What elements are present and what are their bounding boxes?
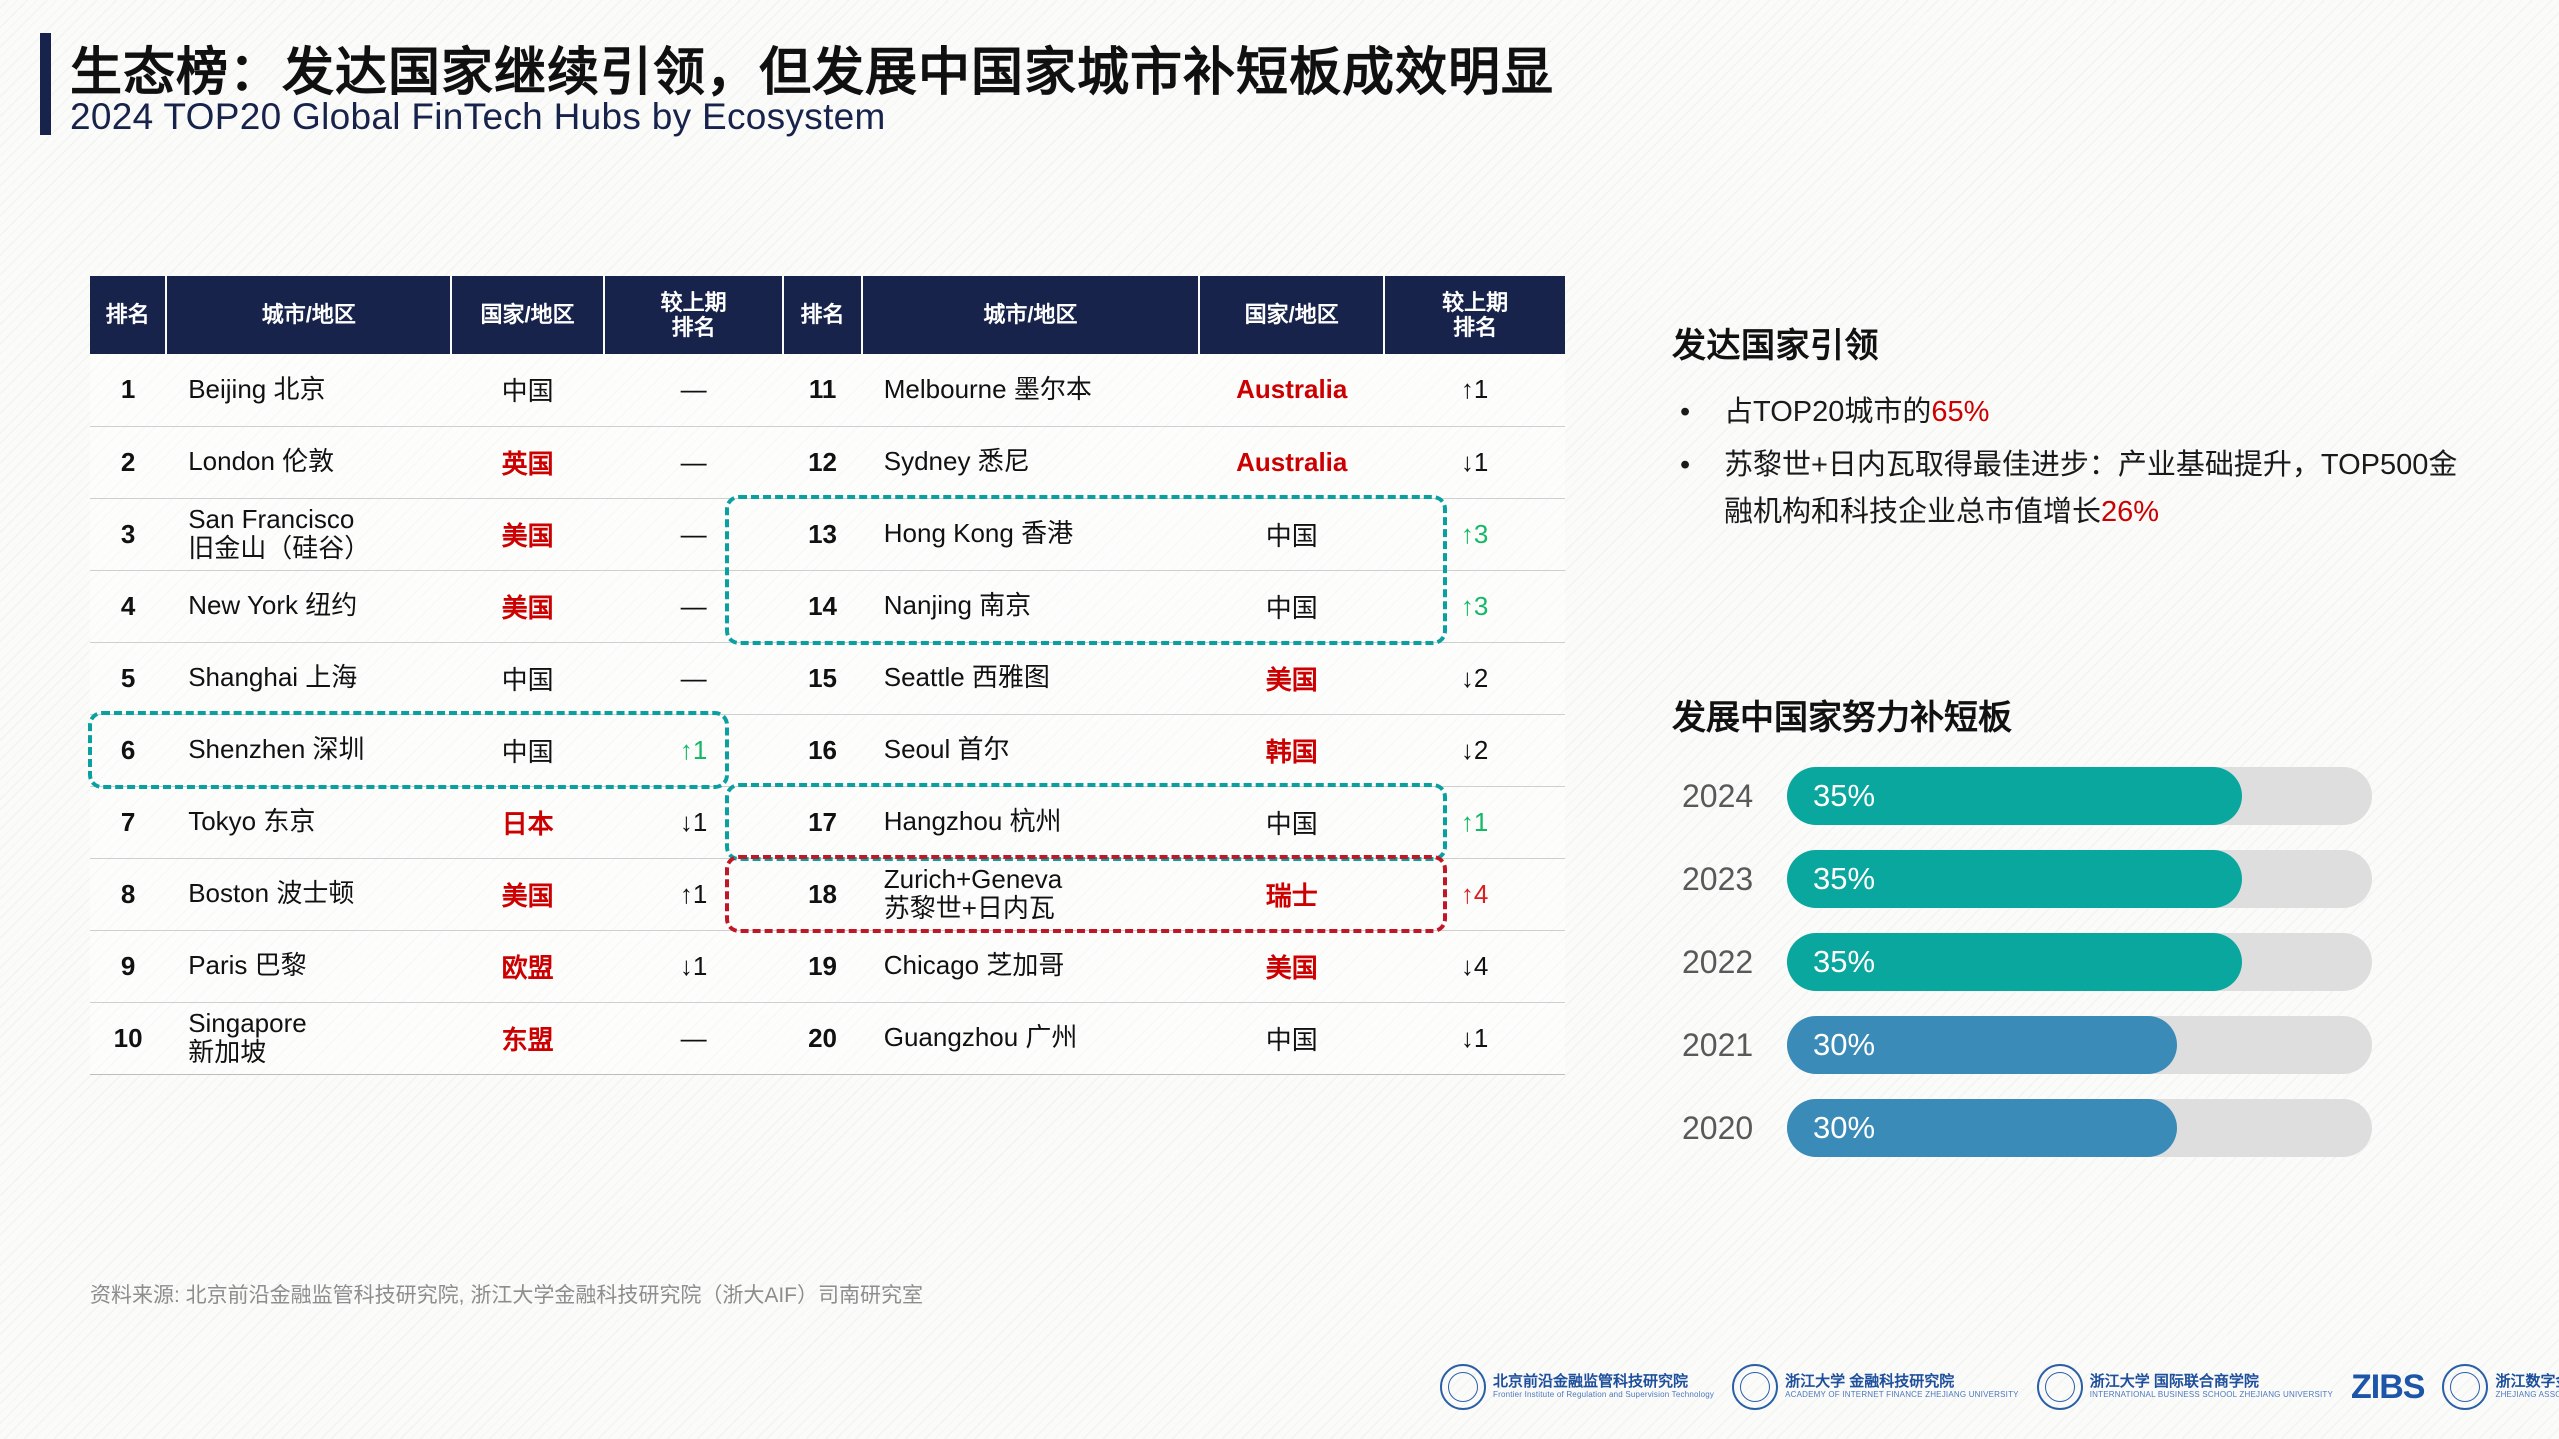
chart-bar-row: 202030%: [1672, 1097, 2472, 1159]
bar-fill: 30%: [1787, 1016, 2177, 1074]
column-header-country-right: 国家/地区: [1199, 276, 1384, 354]
column-header-city-right: 城市/地区: [862, 276, 1199, 354]
city-name: Hong Kong 香港: [884, 518, 1073, 548]
rank-cell-left: 10: [90, 1002, 166, 1074]
city-cell-right: Seattle 西雅图: [862, 642, 1199, 714]
institution-seal-icon: [1440, 1364, 1486, 1410]
rank-change-indicator: ↓1: [1461, 1023, 1488, 1053]
rank-cell-right: 18: [783, 858, 861, 930]
rank-change-indicator: ↓4: [1461, 951, 1488, 981]
rank-cell-left: 3: [90, 498, 166, 570]
bar-year-label: 2020: [1672, 1110, 1787, 1147]
footer-logo-strip: 北京前沿金融监管科技研究院Frontier Institute of Regul…: [1440, 1352, 2540, 1422]
rank-cell-left: 6: [90, 714, 166, 786]
bar-year-label: 2023: [1672, 861, 1787, 898]
change-cell-right: ↑4: [1384, 858, 1565, 930]
column-header-rank-left: 排名: [90, 276, 166, 354]
page-header: 生态榜：发达国家继续引领，但发展中国家城市补短板成效明显 2024 TOP20 …: [40, 28, 2140, 138]
city-name: Paris 巴黎: [188, 950, 306, 980]
table-row: 2London 伦敦英国—12Sydney 悉尼Australia↓1: [90, 426, 1565, 498]
chart-bar-row: 202335%: [1672, 848, 2472, 910]
country-cell-right: 中国: [1199, 786, 1384, 858]
country-cell-right: Australia: [1199, 426, 1384, 498]
table-row: 8Boston 波士顿美国↑118Zurich+Geneva苏黎世+日内瓦瑞士↑…: [90, 858, 1565, 930]
city-name: Guangzhou 广州: [884, 1022, 1078, 1052]
change-cell-right: ↓1: [1384, 1002, 1565, 1074]
change-cell-left: ↓1: [604, 786, 784, 858]
country-label: 美国: [502, 881, 554, 911]
city-name-line2: 苏黎世+日内瓦: [884, 893, 1055, 923]
city-name: Seoul 首尔: [884, 734, 1010, 764]
footer-logo: 浙江大学 国际联合商学院INTERNATIONAL BUSINESS SCHOO…: [2037, 1364, 2333, 1410]
city-name-line2: 旧金山（硅谷）: [188, 533, 370, 563]
rank-cell-left: 1: [90, 354, 166, 426]
ranking-table-container: 排名 城市/地区 国家/地区 较上期排名 排名 城市/地区 国家/地区 较上期排…: [90, 276, 1565, 1236]
city-cell-left: San Francisco旧金山（硅谷）: [166, 498, 451, 570]
logo-name-en: INTERNATIONAL BUSINESS SCHOOL ZHEJIANG U…: [2090, 1391, 2333, 1400]
country-cell-right: 美国: [1199, 930, 1384, 1002]
table-body: 1Beijing 北京中国—11Melbourne 墨尔本Australia↑1…: [90, 354, 1565, 1074]
table-row: 4New York 纽约美国—14Nanjing 南京中国↑3: [90, 570, 1565, 642]
bullet-highlight-value: 26%: [2101, 496, 2159, 528]
city-name: Sydney 悉尼: [884, 446, 1030, 476]
country-cell-right: 中国: [1199, 1002, 1384, 1074]
city-cell-left: Tokyo 东京: [166, 786, 451, 858]
country-cell-left: 中国: [451, 714, 603, 786]
rank-cell-left: 8: [90, 858, 166, 930]
city-name: Shenzhen 深圳: [188, 734, 364, 764]
bar-track: 35%: [1787, 767, 2372, 825]
rank-cell-left: 9: [90, 930, 166, 1002]
country-cell-left: 日本: [451, 786, 603, 858]
city-cell-right: Hangzhou 杭州: [862, 786, 1199, 858]
bullet-dot-icon: •: [1680, 442, 1690, 489]
change-cell-left: ↓1: [604, 930, 784, 1002]
city-cell-left: New York 纽约: [166, 570, 451, 642]
city-name: Hangzhou 杭州: [884, 806, 1062, 836]
rank-change-indicator: ↑1: [1461, 807, 1488, 837]
change-cell-right: ↓1: [1384, 426, 1565, 498]
city-name-line1: Zurich+Geneva: [884, 864, 1062, 894]
bar-fill: 30%: [1787, 1099, 2177, 1157]
city-cell-left: London 伦敦: [166, 426, 451, 498]
city-name-line1: San Francisco: [188, 504, 354, 534]
footer-logo: 浙江数字金融科技联合会ZHEJIANG ASSOCIATION OF FINTE…: [2442, 1364, 2559, 1410]
logo-name-cn: 浙江大学 国际联合商学院: [2090, 1374, 2333, 1391]
bar-track: 35%: [1787, 933, 2372, 991]
rank-change-indicator: ↑3: [1461, 519, 1488, 549]
change-header-line1: 较上期: [661, 290, 727, 315]
change-header2-line2: 排名: [1453, 315, 1497, 340]
city-cell-left: Boston 波士顿: [166, 858, 451, 930]
insights-bullet-list: •占TOP20城市的65%•苏黎世+日内瓦取得最佳进步：产业基础提升，TOP50…: [1672, 389, 2472, 536]
bar-fill: 35%: [1787, 933, 2242, 991]
city-cell-left: Singapore新加坡: [166, 1002, 451, 1074]
change-cell-left: —: [604, 1002, 784, 1074]
city-cell-left: Shenzhen 深圳: [166, 714, 451, 786]
logo-name-en: ACADEMY OF INTERNET FINANCE ZHEJIANG UNI…: [1785, 1391, 2019, 1400]
change-cell-left: ↑1: [604, 858, 784, 930]
change-cell-left: —: [604, 426, 784, 498]
country-cell-left: 中国: [451, 642, 603, 714]
institution-seal-icon: [2037, 1364, 2083, 1410]
table-row: 1Beijing 北京中国—11Melbourne 墨尔本Australia↑1: [90, 354, 1565, 426]
country-label: 中国: [1266, 1025, 1318, 1055]
rank-cell-left: 2: [90, 426, 166, 498]
country-cell-left: 欧盟: [451, 930, 603, 1002]
table-row: 7Tokyo 东京日本↓117Hangzhou 杭州中国↑1: [90, 786, 1565, 858]
rank-cell-right: 13: [783, 498, 861, 570]
country-label: 中国: [1266, 521, 1318, 551]
footer-logo: 浙江大学 金融科技研究院ACADEMY OF INTERNET FINANCE …: [1732, 1364, 2019, 1410]
country-cell-left: 美国: [451, 858, 603, 930]
rank-change-indicator: ↓2: [1461, 663, 1488, 693]
change-cell-right: ↑1: [1384, 354, 1565, 426]
rank-change-indicator: —: [681, 519, 707, 549]
bar-year-label: 2021: [1672, 1027, 1787, 1064]
column-header-change-left: 较上期排名: [604, 276, 784, 354]
city-name: Boston 波士顿: [188, 878, 354, 908]
change-cell-right: ↑3: [1384, 498, 1565, 570]
rank-cell-right: 20: [783, 1002, 861, 1074]
change-cell-right: ↓2: [1384, 714, 1565, 786]
city-name: Nanjing 南京: [884, 590, 1031, 620]
rank-cell-right: 17: [783, 786, 861, 858]
rank-change-indicator: —: [681, 663, 707, 693]
rank-change-indicator: ↑1: [680, 735, 707, 765]
bar-value-label: 35%: [1787, 861, 1875, 897]
chart-bars: 202435%202335%202235%202130%202030%: [1672, 765, 2472, 1159]
bullet-text: 占TOP20城市的: [1724, 396, 1931, 428]
insights-panel-heading: 发达国家引领: [1672, 318, 2472, 367]
rank-change-indicator: —: [681, 374, 707, 404]
page-title: 生态榜：发达国家继续引领，但发展中国家城市补短板成效明显: [70, 30, 1554, 105]
bar-fill: 35%: [1787, 850, 2242, 908]
city-name: Tokyo 东京: [188, 806, 315, 836]
city-cell-left: Beijing 北京: [166, 354, 451, 426]
logo-name-cn: 浙江大学 金融科技研究院: [1785, 1374, 2019, 1391]
country-label: Australia: [1236, 447, 1347, 477]
table-row: 9Paris 巴黎欧盟↓119Chicago 芝加哥美国↓4: [90, 930, 1565, 1002]
country-label: 美国: [1266, 665, 1318, 695]
rank-cell-right: 16: [783, 714, 861, 786]
rank-change-indicator: ↑3: [1461, 591, 1488, 621]
city-cell-right: Zurich+Geneva苏黎世+日内瓦: [862, 858, 1199, 930]
country-cell-left: 美国: [451, 570, 603, 642]
bar-value-label: 30%: [1787, 1027, 1875, 1063]
column-header-change-right: 较上期排名: [1384, 276, 1565, 354]
country-label: Australia: [1236, 374, 1347, 404]
country-label: 中国: [502, 737, 554, 767]
change-cell-right: ↑3: [1384, 570, 1565, 642]
table-row: 10Singapore新加坡东盟—20Guangzhou 广州中国↓1: [90, 1002, 1565, 1074]
country-label: 美国: [502, 593, 554, 623]
rank-cell-right: 11: [783, 354, 861, 426]
rank-cell-left: 4: [90, 570, 166, 642]
change-cell-left: —: [604, 354, 784, 426]
country-label: 美国: [1266, 953, 1318, 983]
city-cell-right: Seoul 首尔: [862, 714, 1199, 786]
country-cell-right: 瑞士: [1199, 858, 1384, 930]
country-label: 美国: [502, 521, 554, 551]
city-cell-left: Paris 巴黎: [166, 930, 451, 1002]
rank-cell-left: 5: [90, 642, 166, 714]
change-cell-left: —: [604, 642, 784, 714]
change-cell-right: ↑1: [1384, 786, 1565, 858]
institution-seal-icon: [1732, 1364, 1778, 1410]
table-row: 3San Francisco旧金山（硅谷）美国—13Hong Kong 香港中国…: [90, 498, 1565, 570]
rank-cell-right: 14: [783, 570, 861, 642]
change-cell-left: ↑1: [604, 714, 784, 786]
rank-cell-right: 15: [783, 642, 861, 714]
source-footnote: 资料来源: 北京前沿金融监管科技研究院, 浙江大学金融科技研究院（浙大AIF）司…: [90, 1279, 923, 1309]
bullet-text: 苏黎世+日内瓦取得最佳进步：产业基础提升，TOP500金融机构和科技企业总市值增…: [1724, 449, 2457, 528]
logo-name-cn: 浙江数字金融科技联合会: [2495, 1374, 2559, 1391]
rank-change-indicator: ↓2: [1461, 735, 1488, 765]
zibs-wordmark: ZIBS: [2351, 1368, 2424, 1407]
change-cell-right: ↓2: [1384, 642, 1565, 714]
bar-year-label: 2022: [1672, 944, 1787, 981]
rank-change-indicator: ↑1: [1461, 374, 1488, 404]
column-header-country-left: 国家/地区: [451, 276, 603, 354]
logo-name-en: ZHEJIANG ASSOCIATION OF FINTECH: [2495, 1391, 2559, 1400]
rank-cell-right: 19: [783, 930, 861, 1002]
bar-fill: 35%: [1787, 767, 2242, 825]
bar-track: 30%: [1787, 1016, 2372, 1074]
country-label: 欧盟: [502, 953, 554, 983]
chart-bar-row: 202130%: [1672, 1014, 2472, 1076]
logo-name-en: Frontier Institute of Regulation and Sup…: [1493, 1391, 1714, 1400]
country-label: 中国: [502, 376, 554, 406]
column-header-city-left: 城市/地区: [166, 276, 451, 354]
rank-change-indicator: —: [681, 447, 707, 477]
chart-title: 发展中国家努力补短板: [1672, 690, 2472, 739]
city-name: Chicago 芝加哥: [884, 950, 1065, 980]
developing-countries-chart: 发展中国家努力补短板 202435%202335%202235%202130%2…: [1672, 690, 2472, 1180]
country-label: 中国: [1266, 809, 1318, 839]
title-accent-bar: [40, 33, 51, 135]
city-name: Beijing 北京: [188, 374, 325, 404]
city-cell-right: Chicago 芝加哥: [862, 930, 1199, 1002]
rank-cell-right: 12: [783, 426, 861, 498]
country-label: 中国: [502, 665, 554, 695]
change-header2-line1: 较上期: [1442, 290, 1508, 315]
rank-change-indicator: ↑1: [680, 879, 707, 909]
city-cell-right: Melbourne 墨尔本: [862, 354, 1199, 426]
insight-bullet: •苏黎世+日内瓦取得最佳进步：产业基础提升，TOP500金融机构和科技企业总市值…: [1672, 442, 2472, 536]
bar-track: 30%: [1787, 1099, 2372, 1157]
chart-bar-row: 202435%: [1672, 765, 2472, 827]
city-name: Shanghai 上海: [188, 662, 357, 692]
table-row: 5Shanghai 上海中国—15Seattle 西雅图美国↓2: [90, 642, 1565, 714]
country-cell-right: Australia: [1199, 354, 1384, 426]
city-cell-right: Sydney 悉尼: [862, 426, 1199, 498]
page-subtitle: 2024 TOP20 Global FinTech Hubs by Ecosys…: [70, 96, 886, 138]
institution-seal-icon: [2442, 1364, 2488, 1410]
rank-cell-left: 7: [90, 786, 166, 858]
ranking-table: 排名 城市/地区 国家/地区 较上期排名 排名 城市/地区 国家/地区 较上期排…: [90, 276, 1565, 1075]
change-cell-left: —: [604, 570, 784, 642]
bar-value-label: 35%: [1787, 778, 1875, 814]
city-name: Melbourne 墨尔本: [884, 374, 1092, 404]
country-label: 韩国: [1266, 737, 1318, 767]
bullet-highlight-value: 65%: [1931, 396, 1989, 428]
country-cell-left: 英国: [451, 426, 603, 498]
city-name: London 伦敦: [188, 446, 334, 476]
column-header-rank-right: 排名: [783, 276, 861, 354]
country-cell-left: 中国: [451, 354, 603, 426]
city-cell-right: Hong Kong 香港: [862, 498, 1199, 570]
rank-change-indicator: ↓1: [1461, 447, 1488, 477]
country-cell-right: 美国: [1199, 642, 1384, 714]
change-header-line2: 排名: [672, 315, 716, 340]
rank-change-indicator: ↓1: [680, 807, 707, 837]
city-cell-right: Nanjing 南京: [862, 570, 1199, 642]
country-label: 瑞士: [1266, 881, 1318, 911]
insight-bullet: •占TOP20城市的65%: [1672, 389, 2472, 436]
logo-name-cn: 北京前沿金融监管科技研究院: [1493, 1374, 1714, 1391]
country-label: 英国: [502, 449, 554, 479]
change-cell-left: —: [604, 498, 784, 570]
bar-year-label: 2024: [1672, 778, 1787, 815]
bar-value-label: 30%: [1787, 1110, 1875, 1146]
rank-change-indicator: ↓1: [680, 951, 707, 981]
bar-track: 35%: [1787, 850, 2372, 908]
country-label: 东盟: [502, 1025, 554, 1055]
chart-bar-row: 202235%: [1672, 931, 2472, 993]
country-cell-left: 美国: [451, 498, 603, 570]
table-header-row: 排名 城市/地区 国家/地区 较上期排名 排名 城市/地区 国家/地区 较上期排…: [90, 276, 1565, 354]
city-cell-right: Guangzhou 广州: [862, 1002, 1199, 1074]
footer-logo: ZIBS: [2351, 1368, 2424, 1407]
country-cell-right: 中国: [1199, 498, 1384, 570]
bullet-dot-icon: •: [1680, 389, 1690, 436]
country-label: 中国: [1266, 593, 1318, 623]
city-name-line2: 新加坡: [188, 1037, 266, 1067]
country-label: 日本: [502, 809, 554, 839]
change-cell-right: ↓4: [1384, 930, 1565, 1002]
city-name: Seattle 西雅图: [884, 662, 1050, 692]
city-name-line1: Singapore: [188, 1008, 307, 1038]
insights-panel: 发达国家引领 •占TOP20城市的65%•苏黎世+日内瓦取得最佳进步：产业基础提…: [1672, 318, 2472, 542]
rank-change-indicator: —: [681, 1023, 707, 1053]
table-row: 6Shenzhen 深圳中国↑116Seoul 首尔韩国↓2: [90, 714, 1565, 786]
bar-value-label: 35%: [1787, 944, 1875, 980]
footer-logo: 北京前沿金融监管科技研究院Frontier Institute of Regul…: [1440, 1364, 1714, 1410]
rank-change-indicator: ↑4: [1461, 879, 1488, 909]
country-cell-right: 韩国: [1199, 714, 1384, 786]
country-cell-left: 东盟: [451, 1002, 603, 1074]
city-name: New York 纽约: [188, 590, 357, 620]
rank-change-indicator: —: [681, 591, 707, 621]
city-cell-left: Shanghai 上海: [166, 642, 451, 714]
country-cell-right: 中国: [1199, 570, 1384, 642]
